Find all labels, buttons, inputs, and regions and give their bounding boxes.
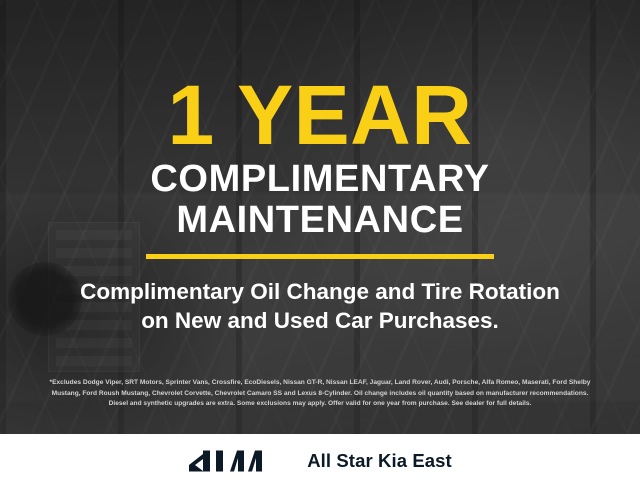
headline-stack: 1 YEAR COMPLIMENTARY MAINTENANCE Complim… [0, 0, 640, 434]
headline-complimentary: COMPLIMENTARY [150, 160, 489, 199]
deck-line-1: Complimentary Oil Change and Tire Rotati… [80, 277, 560, 306]
headline-maintenance: MAINTENANCE [176, 201, 463, 240]
disclaimer-line-1: *Excludes Dodge Viper, SRT Motors, Sprin… [10, 378, 630, 389]
disclaimer-text: *Excludes Dodge Viper, SRT Motors, Sprin… [10, 378, 630, 410]
deck-line-2: on New and Used Car Purchases. [141, 306, 499, 335]
disclaimer-line-2: Mustang, Ford Roush Mustang, Chevrolet C… [10, 389, 630, 400]
dealer-name: All Star Kia East [307, 450, 452, 472]
disclaimer-line-3: Diesel and synthetic upgrades are extra.… [10, 399, 630, 410]
hero-section: 1 YEAR COMPLIMENTARY MAINTENANCE Complim… [0, 0, 640, 434]
kia-logo [188, 448, 284, 474]
headline-year: 1 YEAR [168, 76, 473, 154]
yellow-divider-rule [146, 254, 494, 259]
footer-brand-bar: All Star Kia East [0, 434, 640, 488]
promotional-banner: 1 YEAR COMPLIMENTARY MAINTENANCE Complim… [0, 0, 640, 488]
